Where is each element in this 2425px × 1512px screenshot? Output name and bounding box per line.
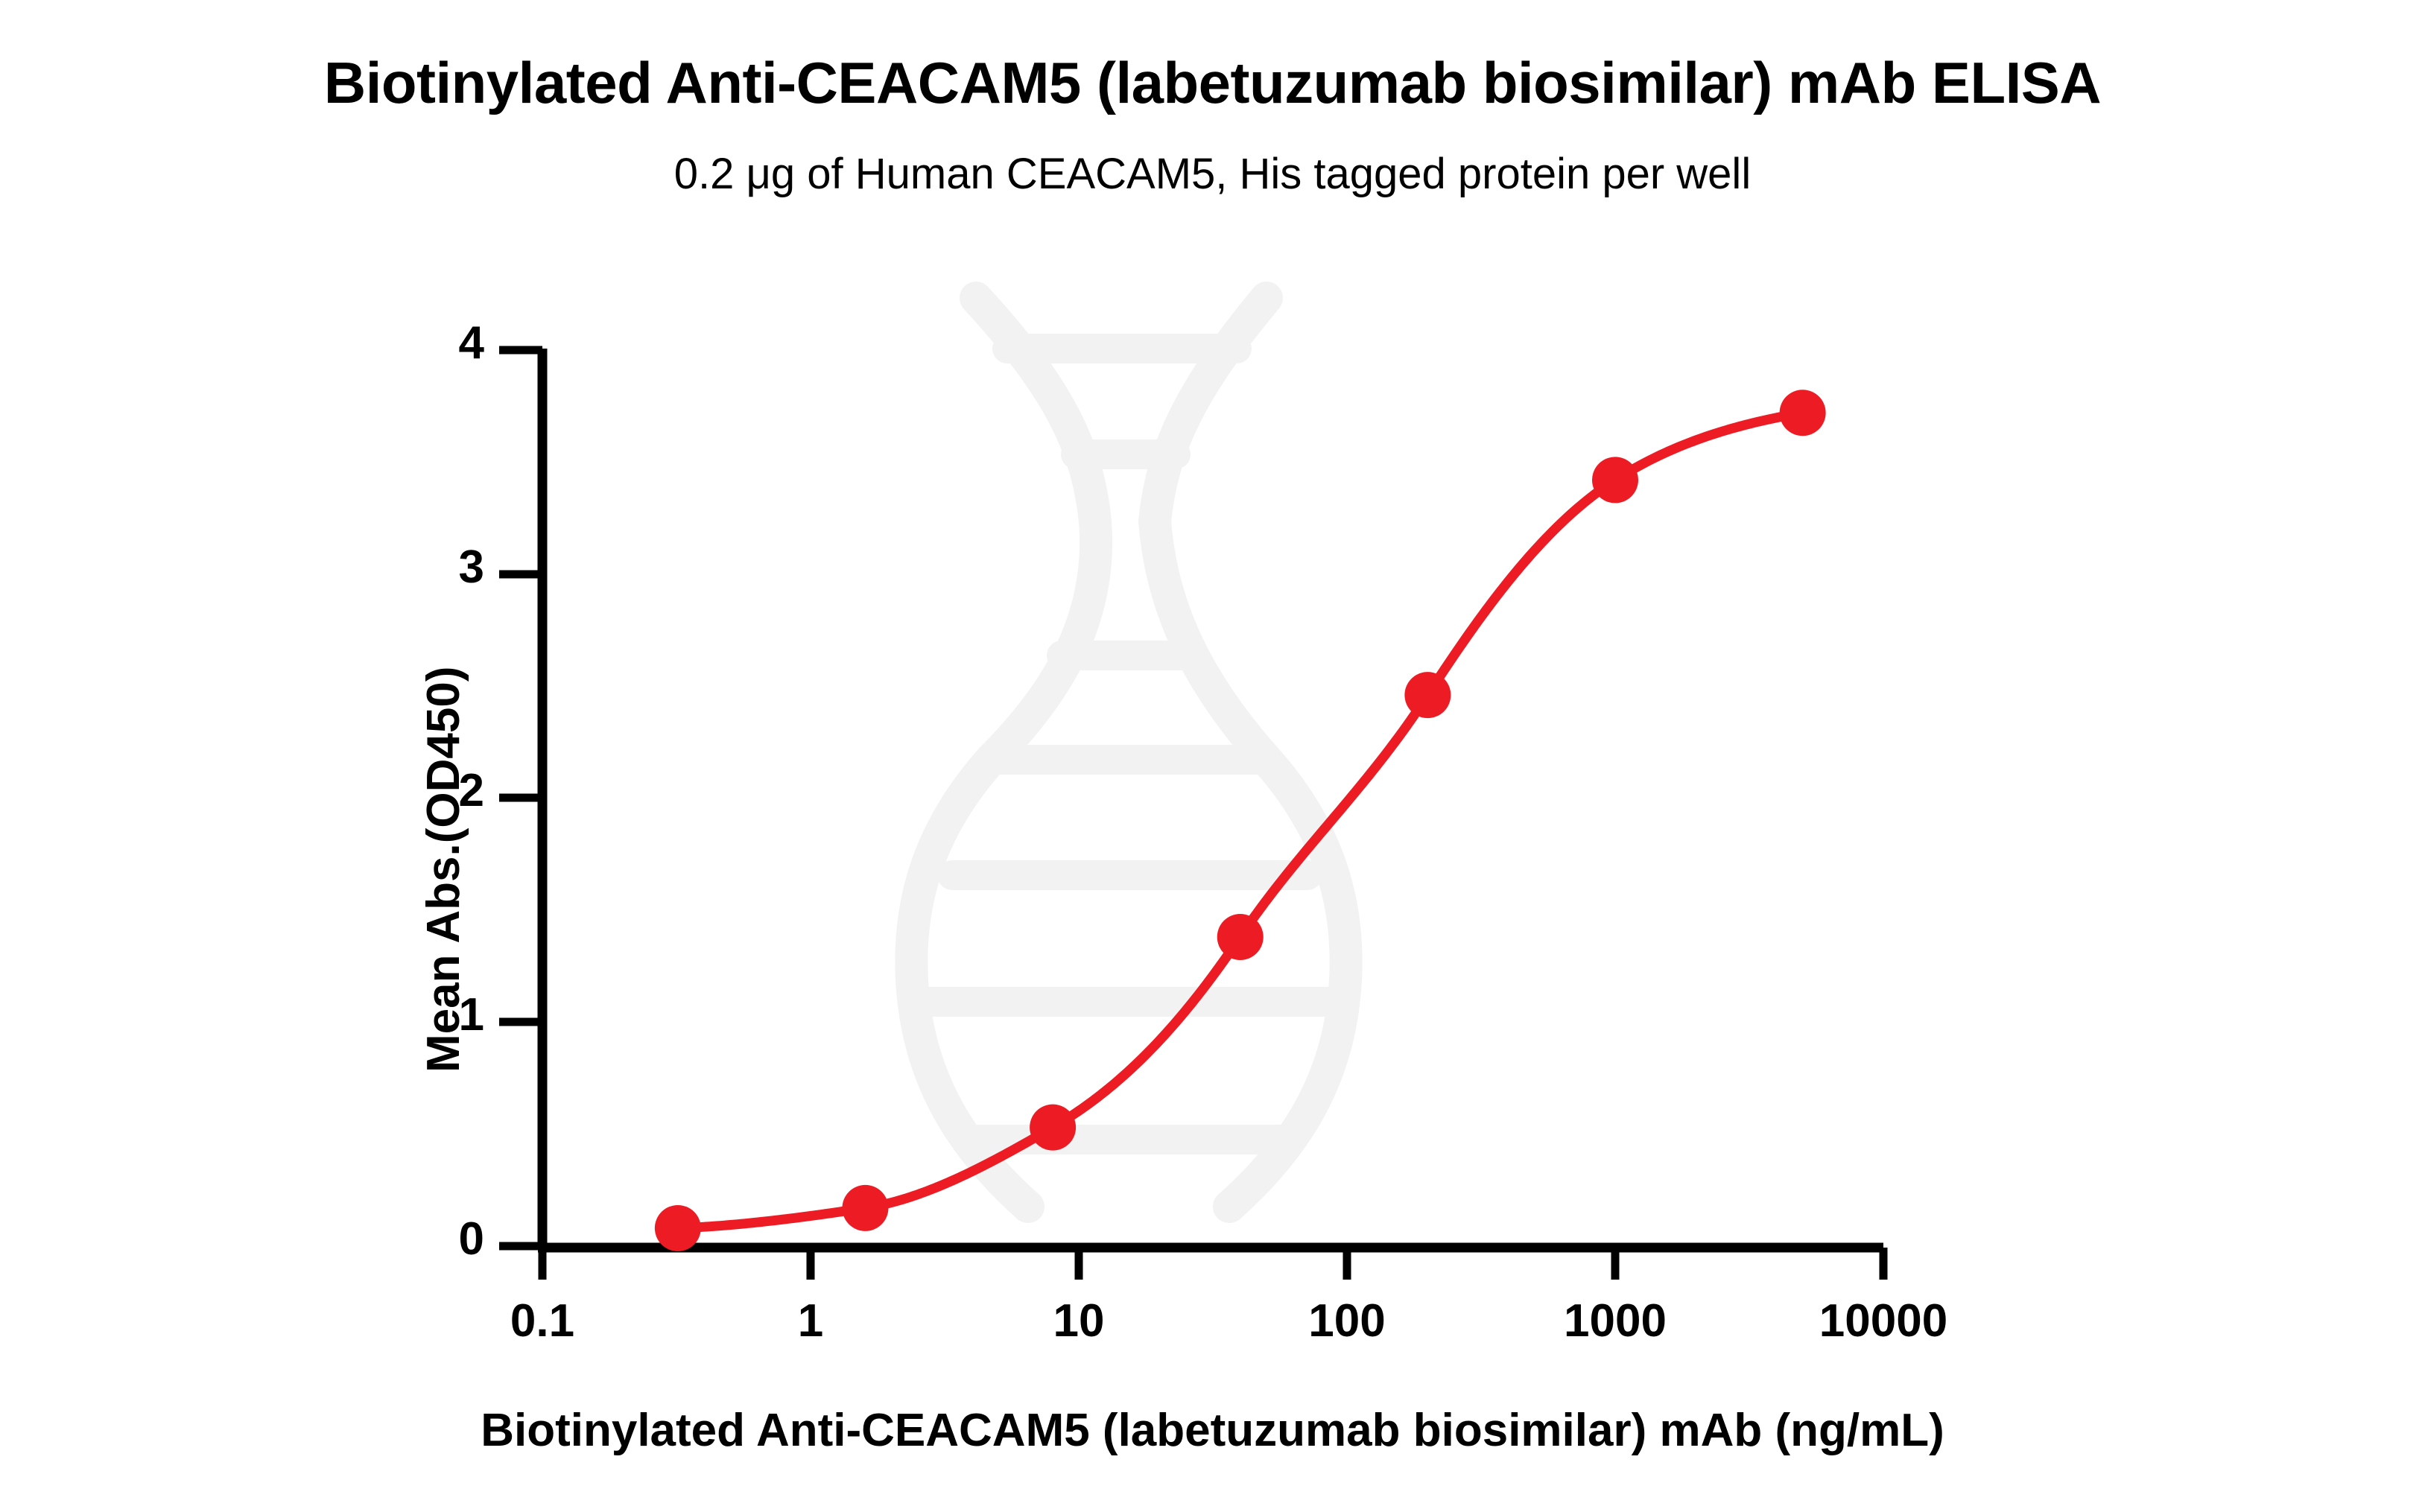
data-point	[1217, 914, 1264, 960]
data-point	[842, 1185, 888, 1231]
data-point	[1592, 457, 1638, 503]
x-tick-label-2: 10	[974, 1295, 1183, 1347]
y-axis-title: Mean Abs.(OD450)	[417, 667, 470, 1073]
x-tick-label-3: 100	[1243, 1295, 1451, 1347]
x-tick-label-1: 1	[706, 1295, 915, 1347]
y-tick-label-4: 4	[425, 317, 484, 369]
axis-lines	[538, 349, 1883, 1248]
elisa-chart: 4 3 2 1 0 0.1 1 10 100 1000 10000 Mean A…	[0, 0, 2425, 1512]
data-point	[1404, 672, 1451, 718]
series-markers	[655, 390, 1826, 1251]
chart-page: Biotinylated Anti-CEACAM5 (labetuzumab b…	[0, 0, 2425, 1512]
x-tick-label-4: 1000	[1511, 1295, 1719, 1347]
chart-canvas	[0, 0, 2425, 1512]
data-point	[1030, 1105, 1076, 1151]
data-point	[655, 1205, 701, 1251]
y-tick-label-0: 0	[425, 1213, 484, 1265]
x-tick-label-0: 0.1	[438, 1295, 647, 1347]
y-tick-label-3: 3	[425, 541, 484, 594]
data-point	[1780, 390, 1826, 436]
x-axis-title: Biotinylated Anti-CEACAM5 (labetuzumab b…	[0, 1404, 2425, 1457]
series-curve	[678, 413, 1803, 1228]
x-tick-label-5: 10000	[1779, 1295, 1988, 1347]
y-axis-ticks	[499, 350, 542, 1246]
